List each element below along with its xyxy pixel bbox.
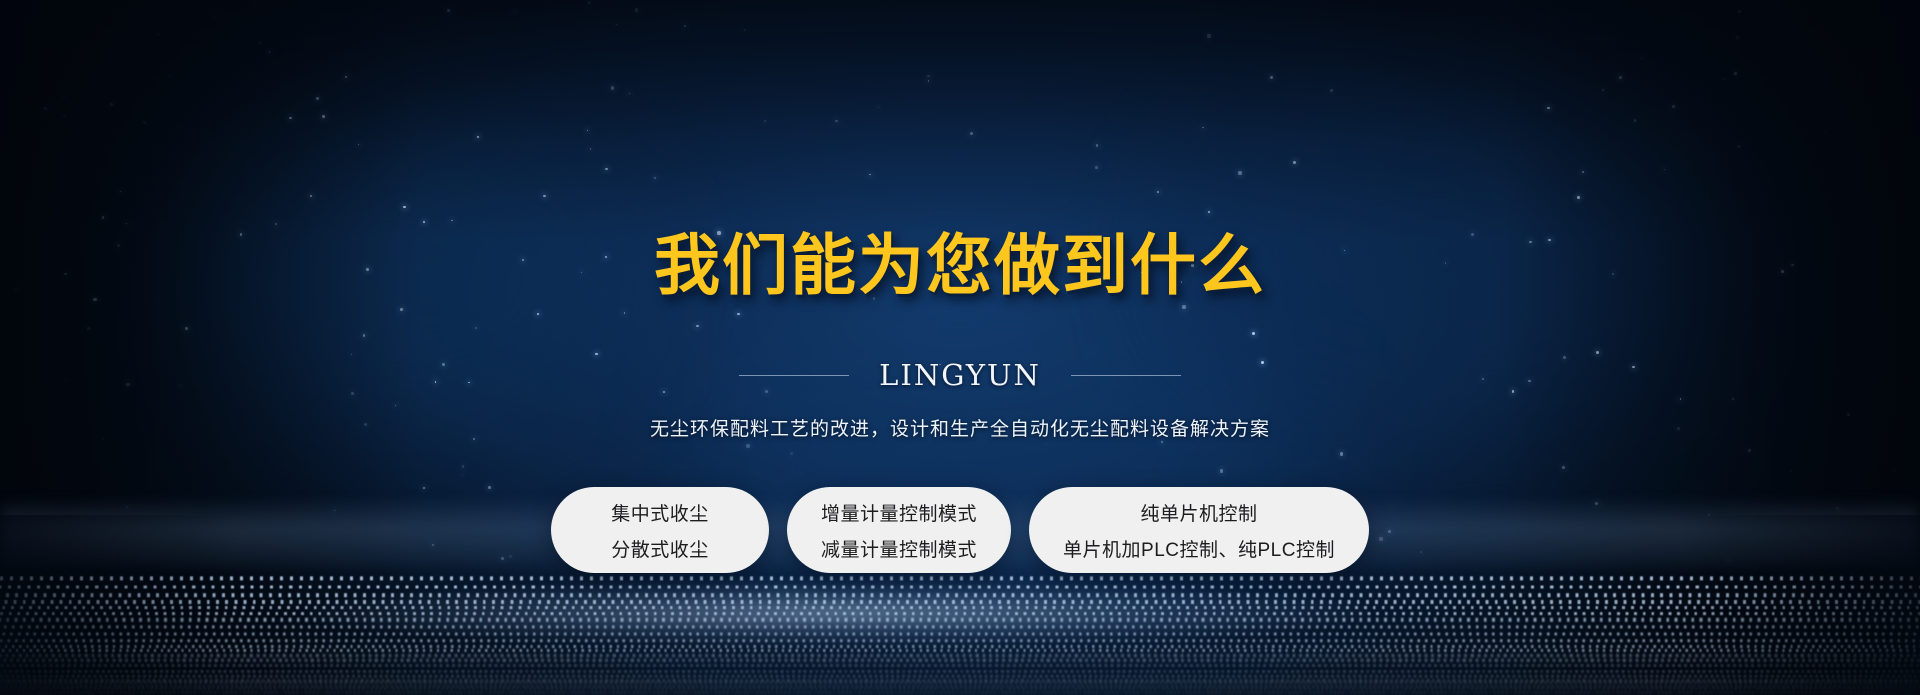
feature-card-line-2: 减量计量控制模式 [821, 535, 977, 562]
feature-card-control-system[interactable]: 纯单片机控制 单片机加PLC控制、纯PLC控制 [1029, 487, 1369, 573]
feature-card-line-1: 集中式收尘 [611, 499, 709, 526]
page-title: 我们能为您做到什么 [654, 232, 1266, 298]
subtitle-row: LINGYUN [739, 358, 1181, 392]
banner-content: 我们能为您做到什么 LINGYUN 无尘环保配料工艺的改进，设计和生产全自动化无… [0, 0, 1920, 695]
feature-card-line-1: 增量计量控制模式 [821, 499, 977, 526]
feature-card-metering-mode[interactable]: 增量计量控制模式 减量计量控制模式 [787, 487, 1011, 573]
divider-line-left [739, 375, 849, 376]
feature-card-line-1: 纯单片机控制 [1140, 499, 1257, 526]
brand-name: LINGYUN [879, 358, 1041, 392]
feature-card-dust-collection[interactable]: 集中式收尘 分散式收尘 [551, 487, 769, 573]
page-description: 无尘环保配料工艺的改进，设计和生产全自动化无尘配料设备解决方案 [650, 414, 1270, 441]
divider-line-right [1071, 375, 1181, 376]
feature-card-line-2: 单片机加PLC控制、纯PLC控制 [1063, 535, 1335, 562]
feature-card-line-2: 分散式收尘 [611, 535, 709, 562]
feature-card-list: 集中式收尘 分散式收尘 增量计量控制模式 减量计量控制模式 纯单片机控制 单片机… [551, 487, 1369, 573]
hero-banner: 我们能为您做到什么 LINGYUN 无尘环保配料工艺的改进，设计和生产全自动化无… [0, 0, 1920, 695]
